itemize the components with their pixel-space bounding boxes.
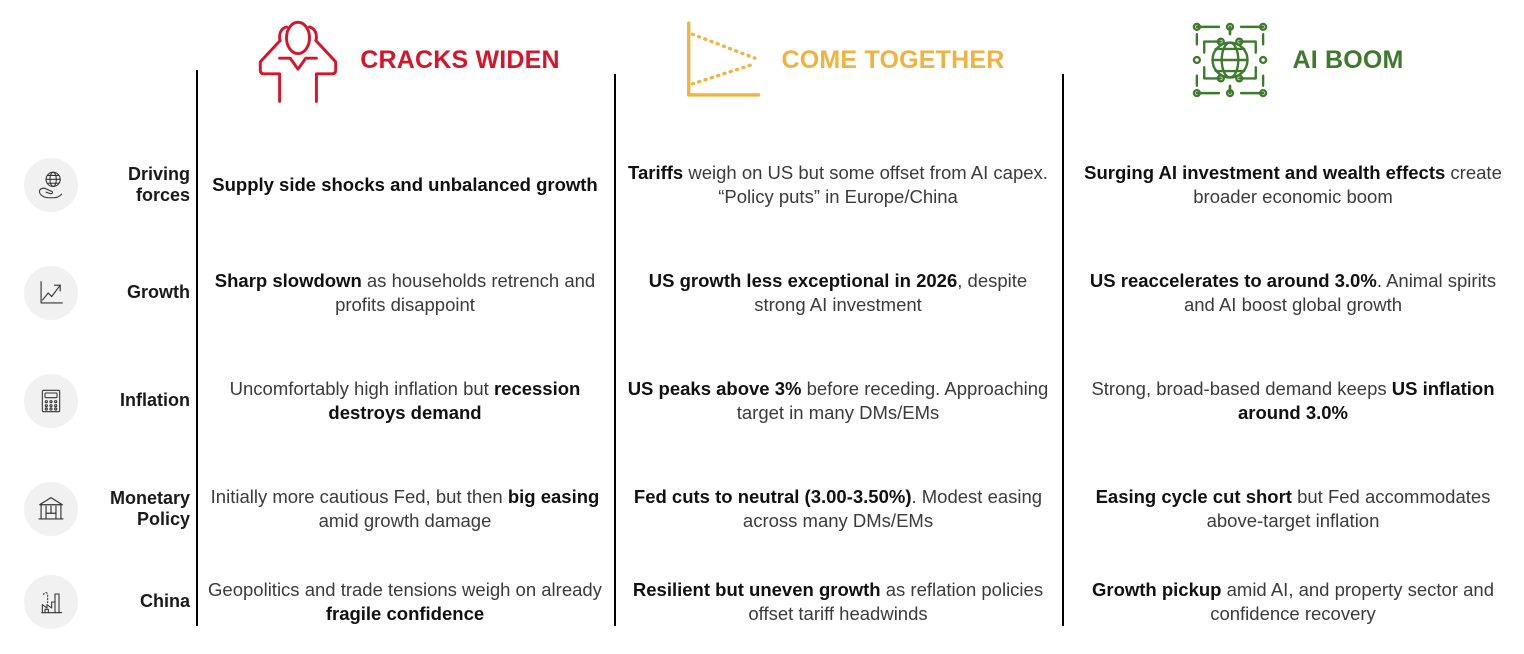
scenario-title: COME TOGETHER [782,46,1005,75]
row-label-text: Inflation [92,390,196,411]
matrix-row-monetary-policy: Monetary Policy Initially more cautious … [0,459,1524,559]
row-label-china: China [0,557,196,647]
cell-monetary-policy-ai-boom: Easing cycle cut short but Fed accommoda… [1062,459,1524,559]
scenario-header-cracks-widen: CRACKS WIDEN [196,8,614,112]
cell-growth-cracks-widen: Sharp slowdown as households retrench an… [196,243,614,343]
row-label-text: Monetary Policy [92,488,196,530]
cell-china-cracks-widen: Geopolitics and trade tensions weigh on … [196,557,614,647]
row-label-inflation: Inflation [0,351,196,451]
row-label-monetary-policy: Monetary Policy [0,459,196,559]
scenario-header-come-together: COME TOGETHER [614,8,1062,112]
cell-inflation-come-together: US peaks above 3% before receding. Appro… [614,351,1062,451]
scenario-title: CRACKS WIDEN [360,46,560,75]
converging-forecast-chart-icon [672,12,768,108]
factory-icon [24,575,78,629]
scenario-header-row: CRACKS WIDEN COME TOGETHER [0,0,1524,120]
matrix-row-inflation: Inflation Uncomfortably high inflation b… [0,351,1524,451]
matrix-row-driving-forces: Driving forces Supply side shocks and un… [0,135,1524,235]
cell-monetary-policy-come-together: Fed cuts to neutral (3.00-3.50%). Modest… [614,459,1062,559]
globe-circuit-icon [1182,12,1278,108]
matrix-row-growth: Growth Sharp slowdown as households retr… [0,243,1524,343]
cell-growth-ai-boom: US reaccelerates to around 3.0%. Animal … [1062,243,1524,343]
stressed-person-icon [250,12,346,108]
cell-driving-forces-cracks-widen: Supply side shocks and unbalanced growth [196,135,614,235]
globe-in-hand-icon [24,158,78,212]
cell-driving-forces-ai-boom: Surging AI investment and wealth effects… [1062,135,1524,235]
cell-china-ai-boom: Growth pickup amid AI, and property sect… [1062,557,1524,647]
cell-driving-forces-come-together: Tariffs weigh on US but some offset from… [614,135,1062,235]
cell-china-come-together: Resilient but uneven growth as reflation… [614,557,1062,647]
bank-building-icon [24,482,78,536]
cell-inflation-cracks-widen: Uncomfortably high inflation but recessi… [196,351,614,451]
cell-monetary-policy-cracks-widen: Initially more cautious Fed, but then bi… [196,459,614,559]
scenario-header-ai-boom: AI BOOM [1062,8,1524,112]
cell-growth-come-together: US growth less exceptional in 2026, desp… [614,243,1062,343]
row-label-growth: Growth [0,243,196,343]
line-chart-up-icon [24,266,78,320]
cell-inflation-ai-boom: Strong, broad-based demand keeps US infl… [1062,351,1524,451]
scenario-matrix: CRACKS WIDEN COME TOGETHER [0,0,1524,654]
row-label-driving-forces: Driving forces [0,135,196,235]
calculator-icon [24,374,78,428]
row-label-text: China [92,591,196,612]
row-label-text: Driving forces [92,164,196,206]
matrix-row-china: China Geopolitics and trade tensions wei… [0,557,1524,647]
scenario-title: AI BOOM [1292,46,1403,75]
row-label-text: Growth [92,282,196,303]
